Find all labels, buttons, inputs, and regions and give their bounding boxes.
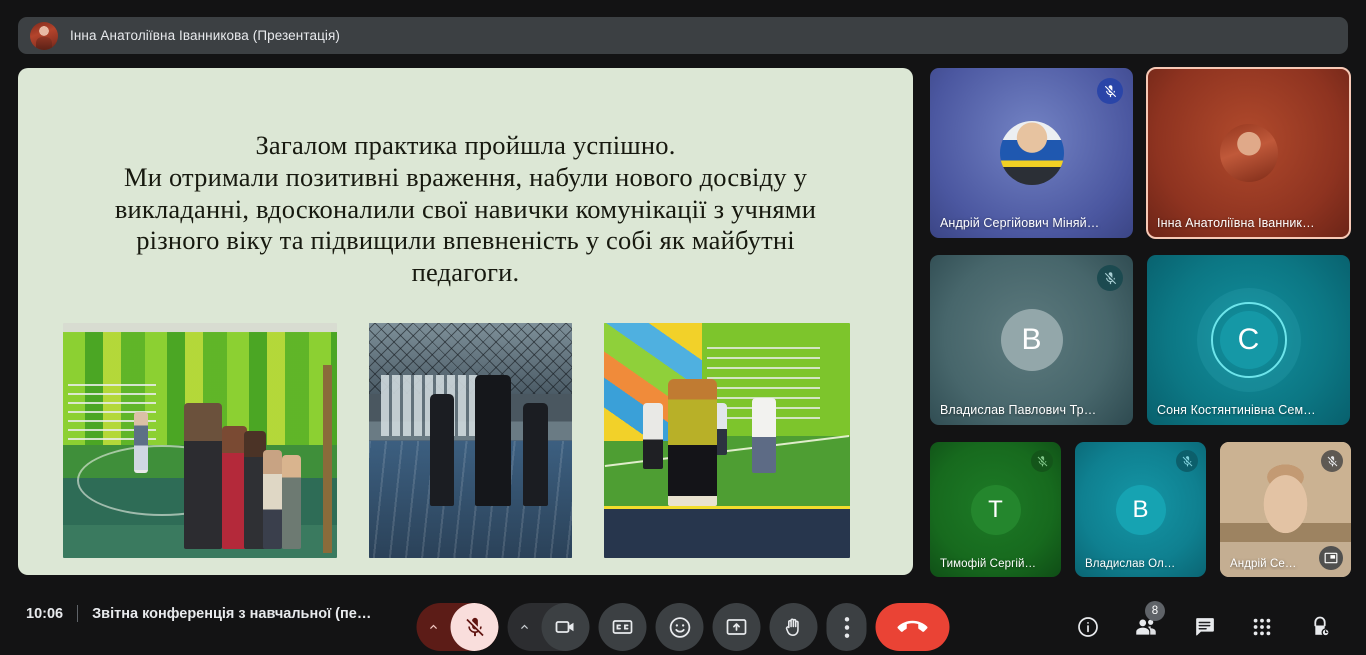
call-controls [417, 603, 950, 651]
camera-button[interactable] [508, 603, 590, 651]
leave-call-button[interactable] [876, 603, 950, 651]
mute-badge [1176, 450, 1198, 472]
activities-button[interactable] [1240, 603, 1284, 651]
video-camera-icon[interactable] [542, 603, 590, 651]
chevron-up-icon[interactable] [417, 603, 451, 651]
mic-off-icon [1181, 455, 1194, 468]
raise-hand-button[interactable] [770, 603, 818, 651]
chat-icon [1192, 615, 1217, 640]
mic-off-icon [1036, 455, 1049, 468]
meeting-meta: 10:06 Звітна конференція з навчальної (п… [26, 605, 371, 622]
slide-line-5: педагоги. [58, 257, 873, 289]
meeting-details-button[interactable] [1066, 603, 1110, 651]
mute-badge [1031, 450, 1053, 472]
slide-text-block: Загалом практика пройшла успішно. Ми отр… [58, 130, 873, 289]
slide-line-2: Ми отримали позитивні враження, набули н… [58, 162, 873, 194]
participant-name: Владислав Павлович Третяк [940, 403, 1101, 417]
lock-icon [1308, 615, 1332, 639]
avatar-initial: С [1220, 311, 1278, 369]
microphone-button[interactable] [417, 603, 499, 651]
tile-row-1: Андрій Сергійович Міняйлук Інна Анатолії… [930, 68, 1350, 238]
slide-photo-3 [604, 323, 850, 558]
avatar-initial: В [1116, 485, 1166, 535]
meeting-window: Інна Анатоліївна Іванникова (Презентація… [0, 0, 1366, 655]
mic-off-icon [1326, 455, 1339, 468]
participant-name: Андрій Се… [1230, 558, 1341, 570]
apps-grid-icon [1251, 616, 1273, 638]
mic-off-icon[interactable] [451, 603, 499, 651]
mute-badge [1321, 450, 1343, 472]
mic-off-icon [1103, 84, 1118, 99]
mute-badge [1097, 78, 1123, 104]
host-controls-button[interactable] [1298, 603, 1342, 651]
right-tools: 8 [1066, 603, 1342, 651]
avatar-initial: В [1001, 309, 1063, 371]
captions-button[interactable] [599, 603, 647, 651]
meeting-title: Звітна конференція з навчальної (пе… [92, 606, 371, 622]
participant-name: Андрій Сергійович Міняйлук [940, 216, 1101, 230]
chevron-up-icon[interactable] [508, 603, 542, 651]
participant-tiles: Андрій Сергійович Міняйлук Інна Анатолії… [930, 68, 1350, 594]
presenter-name: Інна Анатоліївна Іванникова (Презентація… [70, 28, 340, 43]
slide-line-3: викладанні, вдосконалили свої навички ко… [58, 194, 873, 226]
people-count-badge: 8 [1145, 601, 1165, 621]
avatar [1220, 124, 1278, 182]
clock: 10:06 [26, 606, 63, 622]
participant-tile[interactable]: С Соня Костянтинівна Семіле… [1147, 255, 1350, 425]
participant-name: Тимофій Сергій… [940, 558, 1051, 570]
participant-tile[interactable]: Т Тимофій Сергій… [930, 442, 1061, 577]
more-options-button[interactable] [827, 603, 867, 651]
participant-tile[interactable]: В Владислав Павлович Третяк [930, 255, 1133, 425]
present-screen-icon[interactable] [713, 603, 761, 651]
people-button[interactable]: 8 [1124, 603, 1168, 651]
presenter-avatar [30, 22, 58, 50]
reactions-button[interactable] [656, 603, 704, 651]
shared-screen-stage[interactable]: Загалом практика пройшла успішно. Ми отр… [18, 68, 913, 575]
mic-off-icon [1103, 271, 1118, 286]
tile-row-2: В Владислав Павлович Третяк С Соня Костя… [930, 255, 1350, 425]
avatar-initial: Т [971, 485, 1021, 535]
participant-tile[interactable]: Інна Анатоліївна Іванникова [1147, 68, 1350, 238]
bottom-toolbar: 10:06 Звітна конференція з навчальної (п… [0, 579, 1366, 655]
chat-button[interactable] [1182, 603, 1226, 651]
avatar [1000, 121, 1064, 185]
slide-photo-1 [63, 323, 337, 558]
slide-photo-2 [369, 323, 572, 558]
participant-tile[interactable]: В Владислав Ол… [1075, 442, 1206, 577]
participant-name: Соня Костянтинівна Семіле… [1157, 403, 1318, 417]
mute-badge [1097, 265, 1123, 291]
participant-tile[interactable]: Андрій Се… [1220, 442, 1351, 577]
participant-tile[interactable]: Андрій Сергійович Міняйлук [930, 68, 1133, 238]
participant-name: Інна Анатоліївна Іванникова [1157, 216, 1318, 230]
slide-line-4: різного віку та підвищили впевненість у … [58, 225, 873, 257]
tile-row-3: Т Тимофій Сергій… В Владислав Ол… [930, 442, 1350, 577]
slide-line-1: Загалом практика пройшла успішно. [58, 130, 873, 162]
divider [77, 605, 78, 622]
presenter-banner[interactable]: Інна Анатоліївна Іванникова (Презентація… [18, 17, 1348, 54]
participant-name: Владислав Ол… [1085, 558, 1196, 570]
slide-photo-row [63, 323, 873, 563]
